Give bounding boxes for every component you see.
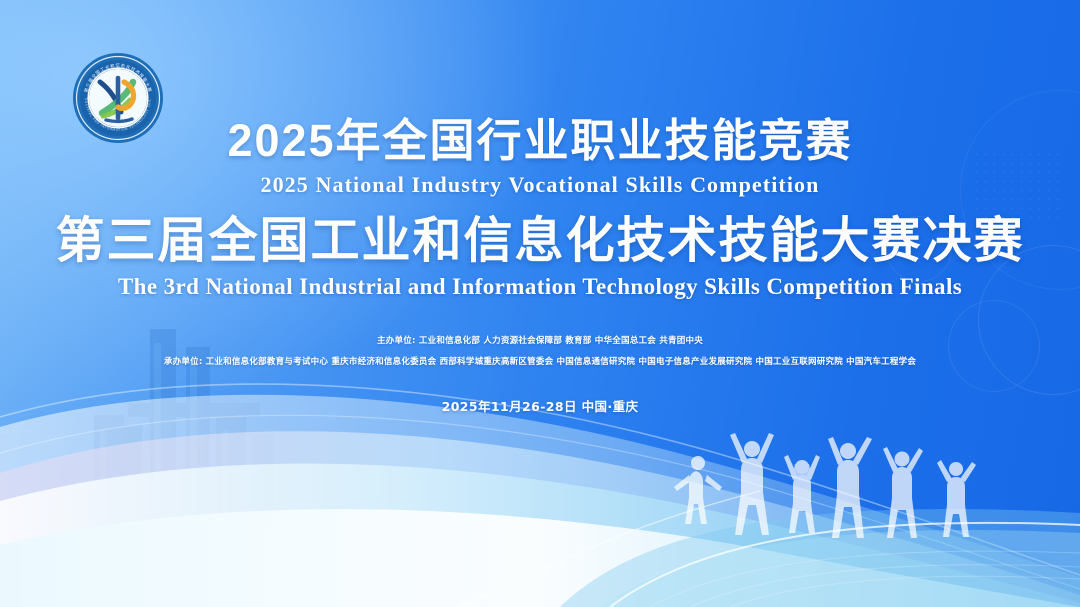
competition-banner: 第三届全国工业和信息化技术技能大赛 INDUSTRIAL AND INFORMA…: [0, 0, 1080, 607]
organizer-line-host: 主办单位: 工业和信息化部 人力资源社会保障部 教育部 中华全国总工会 共青团中…: [377, 336, 703, 346]
page-title-secondary-en: The 3rd National Industrial and Informat…: [118, 274, 962, 300]
organizer-block: 主办单位: 工业和信息化部 人力资源社会保障部 教育部 中华全国总工会 共青团中…: [164, 336, 916, 367]
page-title-primary-en: 2025 National Industry Vocational Skills…: [260, 172, 819, 198]
page-title-secondary-cn: 第三届全国工业和信息化技术技能大赛决赛: [55, 215, 1024, 269]
page-title-primary-cn: 2025年全国行业职业技能竞赛: [227, 116, 852, 166]
organizer-line-co-host: 承办单位: 工业和信息化部教育与考试中心 重庆市经济和信息化委员会 西部科学城重…: [164, 357, 916, 367]
banner-content: 2025年全国行业职业技能竞赛 2025 National Industry V…: [0, 0, 1080, 607]
event-date-location: 2025年11月26-28日 中国·重庆: [442, 396, 639, 415]
